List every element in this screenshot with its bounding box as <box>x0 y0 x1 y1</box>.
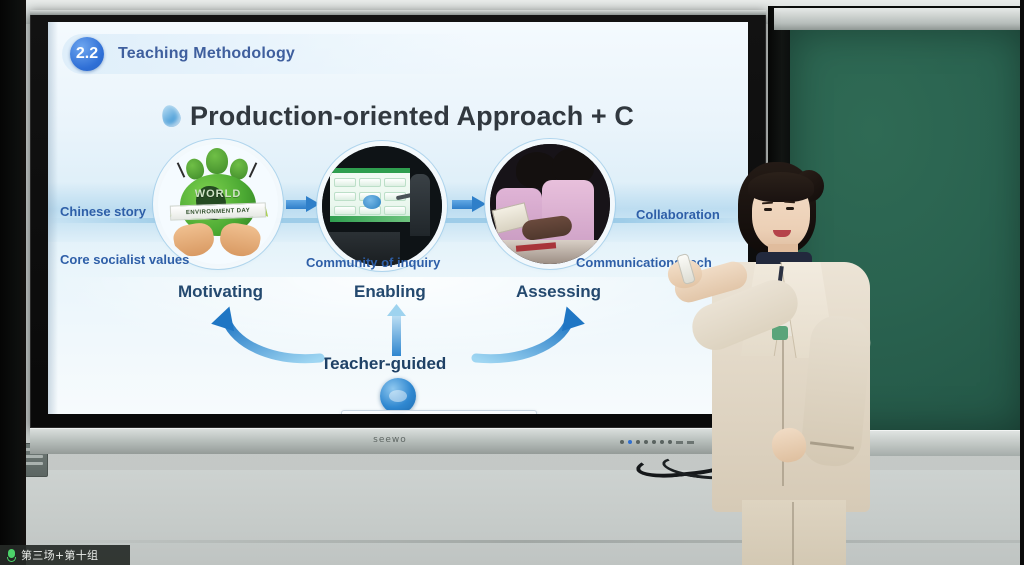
flow-arrow-1 <box>286 196 320 212</box>
screen-bottom-strip <box>330 216 410 222</box>
water-drop-icon <box>159 103 183 129</box>
annotation-icon[interactable] <box>514 412 532 414</box>
microphone-icon <box>6 549 17 562</box>
board-toolbar[interactable] <box>341 410 537 414</box>
world-environment-day-illustration: WORLD ENVIRONMENT DAY <box>158 144 278 264</box>
capture-icon[interactable] <box>346 412 364 414</box>
section-title: Teaching Methodology <box>118 45 295 63</box>
status-bar: 第三场+第十组 <box>0 545 130 565</box>
magnifier-icon[interactable] <box>460 412 478 414</box>
hair-fringe <box>748 172 814 202</box>
eraser-icon[interactable] <box>433 412 451 414</box>
stage-enabling: Enabling <box>354 282 426 302</box>
qr-code-icon[interactable] <box>366 412 384 414</box>
presentation-slide: 2.2 Teaching Methodology Production-orie… <box>48 22 748 414</box>
hand-icon <box>218 221 263 259</box>
circle-image-students <box>490 144 610 264</box>
screen-center-badge <box>363 195 381 209</box>
globe-badge-icon <box>380 378 416 414</box>
device-brand-logo: seewo <box>355 435 425 447</box>
section-number-badge: 2.2 <box>70 37 104 71</box>
cursor-arrow-icon[interactable] <box>393 412 411 414</box>
frame-edge-right <box>1020 0 1024 565</box>
student-head <box>552 148 594 184</box>
lecture-hall-photo <box>322 146 442 266</box>
pen-icon[interactable] <box>413 412 431 414</box>
classroom-scene: 2.2 Teaching Methodology Production-orie… <box>0 0 1024 565</box>
students-photo <box>490 144 610 264</box>
id-badge <box>772 326 788 340</box>
circle-image-row: WORLD ENVIRONMENT DAY <box>48 140 748 270</box>
stage-assessing: Assessing <box>516 282 601 302</box>
screen-cast-icon[interactable] <box>487 412 505 414</box>
frame-edge-left <box>0 0 26 565</box>
slide-title: Production-oriented Approach + C <box>190 101 634 132</box>
blazer-front-seam <box>782 336 784 486</box>
circle-image-world-environment-day: WORLD ENVIRONMENT DAY <box>158 144 278 264</box>
tree-icon <box>206 148 228 174</box>
curved-arrow-left <box>198 300 328 366</box>
presenter-silhouette <box>410 174 430 236</box>
presenter <box>676 140 906 565</box>
slide-title-row: Production-oriented Approach + C <box>48 94 748 138</box>
windmill-icon <box>249 162 258 177</box>
world-text: WORLD <box>158 188 278 200</box>
label-core-socialist-values: Core socialist values <box>60 252 189 267</box>
label-chinese-story: Chinese story <box>60 204 146 219</box>
straight-arrow-center <box>384 304 410 360</box>
trousers <box>742 500 846 565</box>
slide-section-header: 2.2 Teaching Methodology <box>62 34 482 74</box>
chalkboard-top-rail <box>774 8 1024 30</box>
eye <box>786 207 794 210</box>
status-bar-label: 第三场+第十组 <box>21 547 98 563</box>
flow-arrow-2 <box>452 196 486 212</box>
smartboard-top-highlight <box>30 10 766 15</box>
trouser-seam <box>792 502 794 565</box>
windmill-icon <box>177 162 186 177</box>
label-community-of-inquiry: Community of inquiry <box>306 255 440 270</box>
stage-motivating: Motivating <box>178 282 263 302</box>
curved-arrow-right <box>468 300 598 366</box>
eye <box>764 208 772 211</box>
circle-image-lecture-hall <box>322 146 442 266</box>
